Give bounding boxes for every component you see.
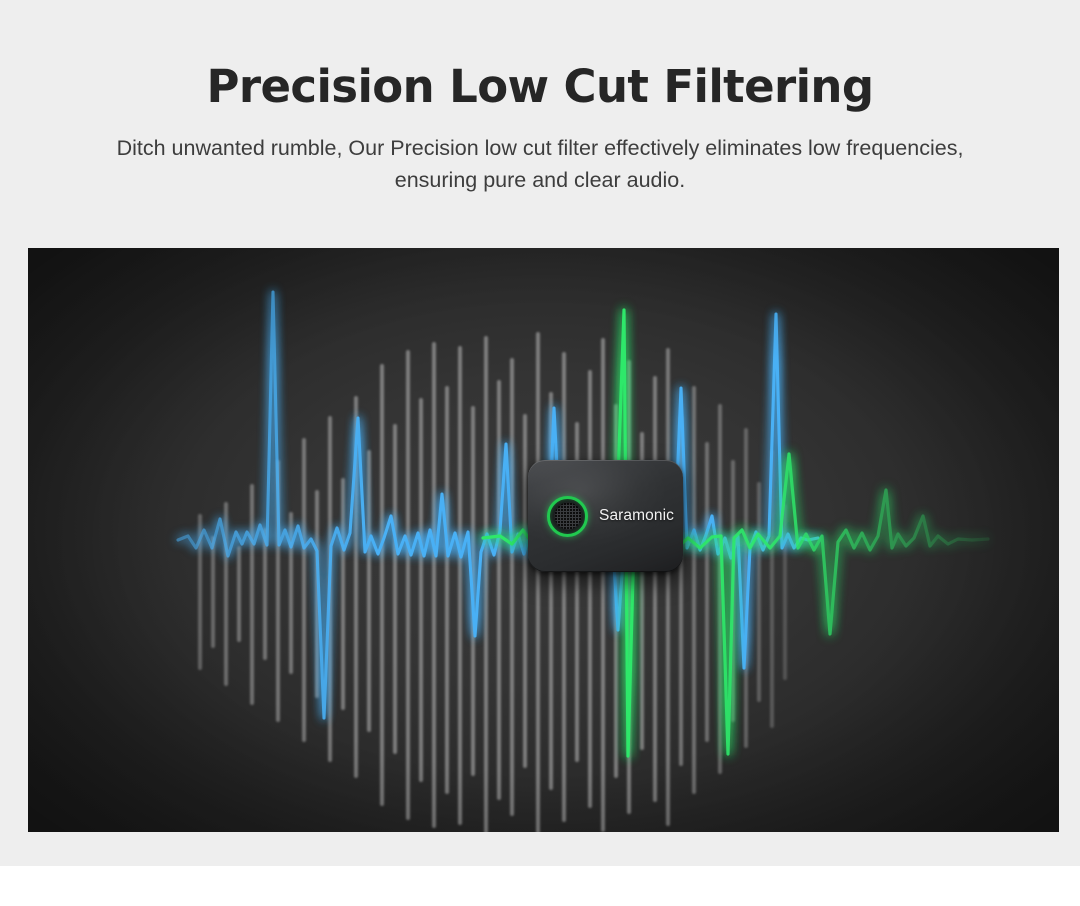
header-block: Precision Low Cut Filtering Ditch unwant… (0, 0, 1080, 196)
page-root: Precision Low Cut Filtering Ditch unwant… (0, 0, 1080, 906)
page-subtitle: Ditch unwanted rumble, Our Precision low… (100, 111, 980, 197)
device-front-content: Saramonic (528, 460, 683, 572)
page-title: Precision Low Cut Filtering (0, 0, 1080, 111)
microphone-mesh-grille (554, 503, 581, 530)
device-brand-label: Saramonic (599, 507, 674, 525)
hero-image-panel: Saramonic (28, 248, 1059, 832)
microphone-transmitter-device: Saramonic (528, 460, 683, 572)
unfiltered-low-frequency-bars (200, 334, 785, 832)
microphone-ring-icon (547, 496, 588, 537)
